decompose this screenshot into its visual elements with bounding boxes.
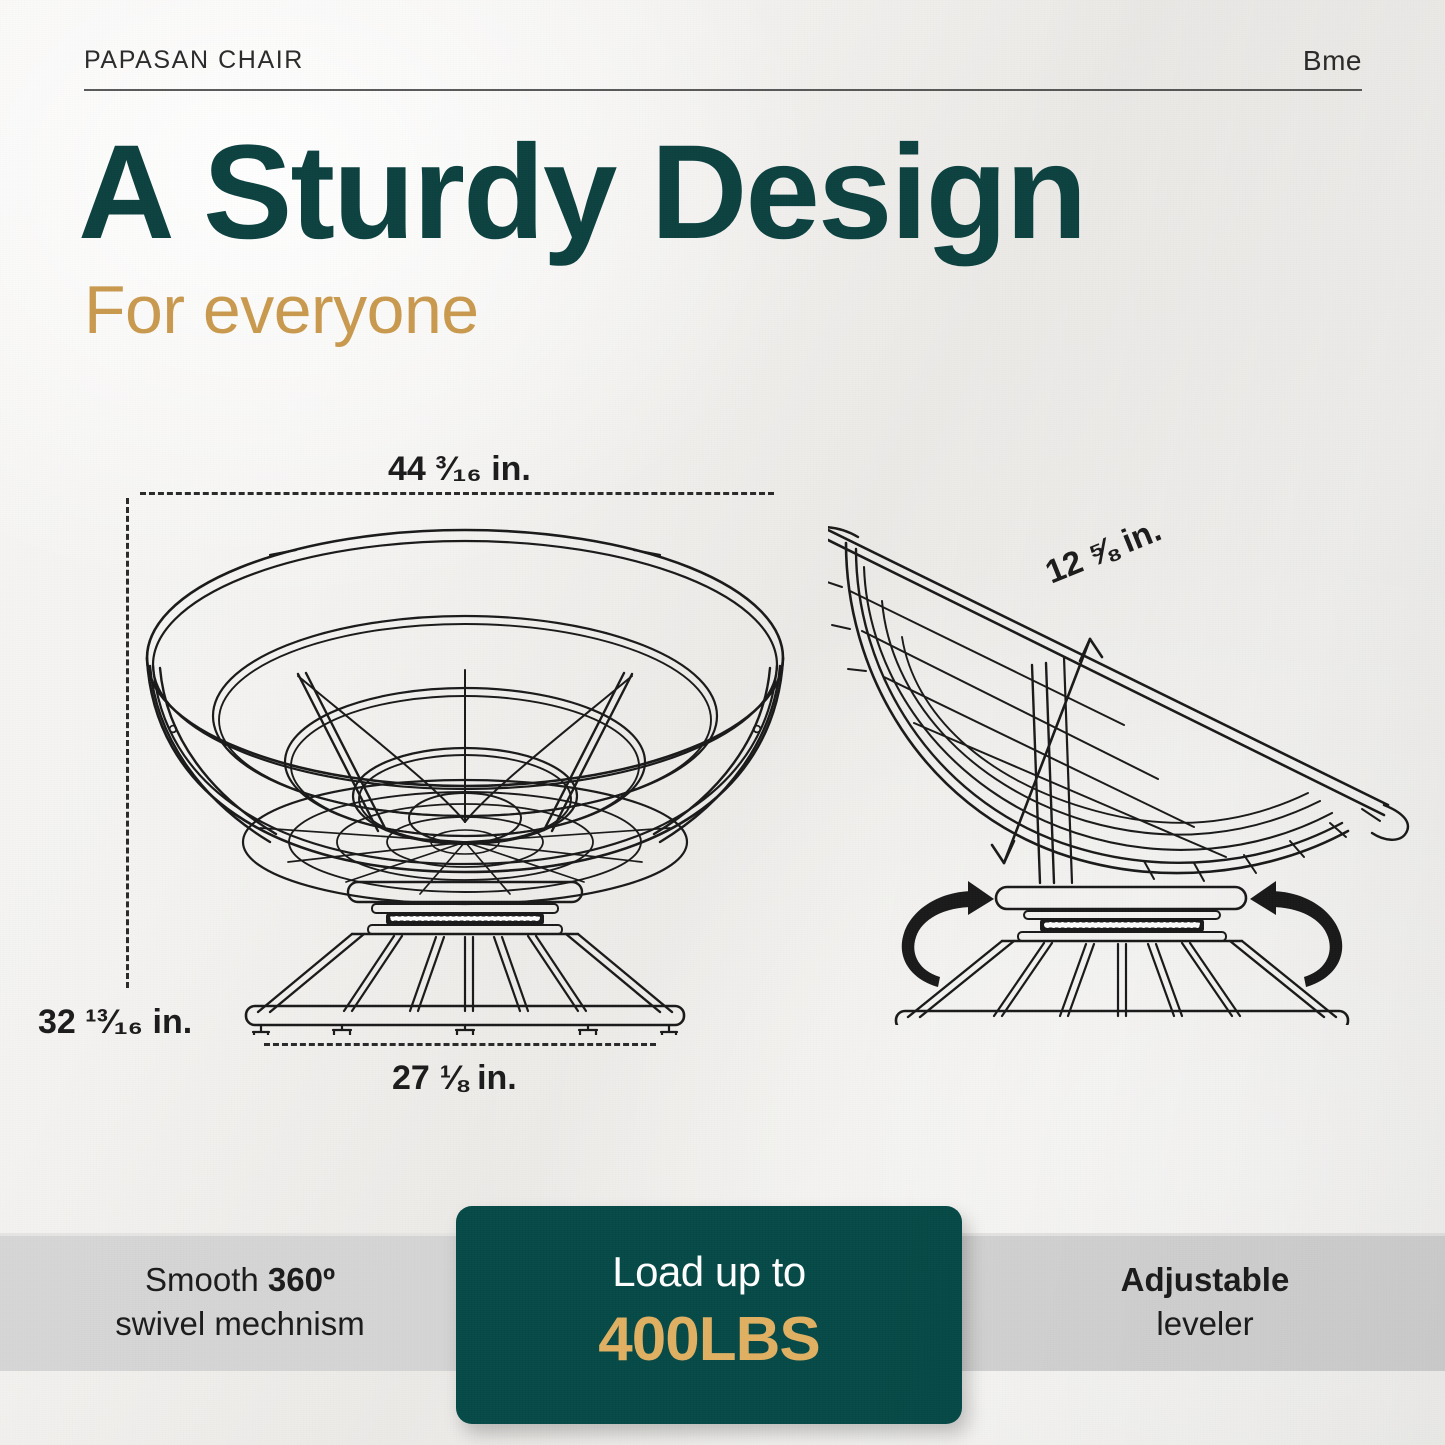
product-label: PAPASAN CHAIR xyxy=(84,46,304,75)
page-header: PAPASAN CHAIR Bme xyxy=(84,24,1362,96)
feature-leveler-line1: Adjustable xyxy=(995,1258,1415,1302)
dimension-label-width: 44 ³⁄₁₆ in. xyxy=(388,450,531,489)
dimension-label-base-width: 27 ⅛ in. xyxy=(392,1059,517,1098)
header-divider xyxy=(84,89,1362,91)
feature-swivel-strong: 360º xyxy=(268,1261,335,1298)
base-width-guide-line xyxy=(264,1043,656,1046)
load-capacity-card: Load up to 400LBS xyxy=(456,1206,962,1424)
feature-swivel-line2: swivel mechnism xyxy=(30,1302,450,1346)
load-capacity-label: Load up to xyxy=(456,1248,962,1296)
side-view-drawing xyxy=(828,505,1438,1030)
feature-swivel: Smooth 360º swivel mechnism xyxy=(30,1258,450,1345)
page-subtitle: For everyone xyxy=(84,276,479,344)
feature-swivel-prefix: Smooth xyxy=(145,1261,268,1298)
feature-leveler-line2: leveler xyxy=(995,1302,1415,1346)
load-capacity-value: 400LBS xyxy=(456,1304,962,1375)
brand-logo: Bme xyxy=(1303,45,1362,77)
feature-leveler-strong: Adjustable xyxy=(1121,1261,1290,1298)
page-title: A Sturdy Design xyxy=(78,126,1085,260)
feature-leveler: Adjustable leveler xyxy=(995,1258,1415,1345)
infographic-page: PAPASAN CHAIR Bme A Sturdy Design For ev… xyxy=(0,0,1445,1445)
front-view-drawing xyxy=(120,490,810,1040)
feature-swivel-line1: Smooth 360º xyxy=(30,1258,450,1302)
